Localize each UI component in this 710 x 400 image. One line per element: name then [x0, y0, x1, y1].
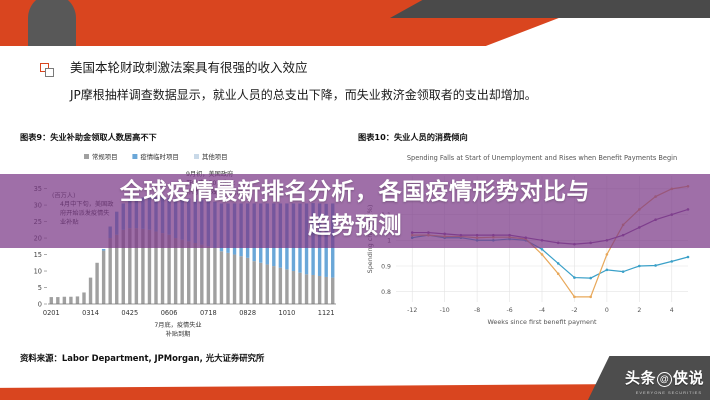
bar-segment-regular [213, 248, 216, 304]
series-point [573, 276, 576, 279]
series-point [606, 253, 609, 256]
series-point [557, 272, 560, 275]
bar-segment-regular [76, 296, 79, 304]
x-tick-label: 0606 [161, 309, 178, 317]
series-point [638, 265, 641, 268]
x-tick-label: 0201 [43, 309, 60, 317]
overlay-title: 全球疫情最新排名分析，各国疫情形势对比与 趋势预测 [0, 176, 710, 243]
bar-segment-regular [89, 278, 92, 304]
bar-segment-regular [272, 266, 275, 304]
x-tick-label: -2 [571, 307, 577, 314]
x-tick-label: -6 [506, 307, 512, 314]
bar-segment-regular [194, 243, 197, 304]
slide-page: 美国本轮财政刺激法案具有很强的收入效应 JP摩根抽样调查数据显示，就业人员的总支… [0, 0, 710, 400]
y-tick-label: 0.8 [381, 289, 391, 296]
series-point [541, 248, 544, 251]
bar-segment-regular [331, 278, 334, 304]
bar-segment-regular [69, 297, 72, 304]
x-tick-label: 0314 [82, 309, 99, 317]
bar-segment-regular [239, 256, 242, 304]
bar-segment-regular [311, 275, 314, 304]
x-tick-label: 2 [637, 307, 641, 314]
bar-segment-regular [56, 297, 59, 304]
watermark-logo: 头条@侠说 [625, 367, 704, 388]
overlay-title-line2: 趋势预测 [0, 210, 710, 244]
bar-segment-regular [220, 251, 223, 304]
chart-right-title: Spending Falls at Start of Unemployment … [407, 154, 677, 162]
series-point [654, 264, 657, 267]
x-tick-label: 0 [605, 307, 609, 314]
bar-segment-regular [187, 241, 190, 304]
watermark-text-a: 头条 [625, 370, 656, 387]
series-point [687, 256, 690, 259]
watermark-subtext: EVERYONE SECURITIES [636, 390, 702, 395]
bar-segment-regular [279, 268, 282, 304]
x-tick-label: 0718 [200, 309, 217, 317]
x-tick-label: -10 [440, 307, 450, 314]
x-axis-label: Weeks since first benefit payment [487, 318, 597, 326]
series-point [622, 270, 625, 273]
y-tick-label: 10 [34, 267, 42, 275]
chart-right-title-text: Spending Falls at Start of Unemployment … [407, 154, 677, 162]
series-point [557, 262, 560, 265]
bar-segment-regular [292, 271, 295, 304]
bar-segment-regular [246, 258, 249, 304]
chart-annotation-2: 7月底，疫情失业 [154, 321, 201, 329]
bar-segment-regular [305, 274, 308, 304]
x-tick-label: -8 [474, 307, 480, 314]
y-tick-label: 0.9 [381, 263, 391, 270]
double-square-bullet-icon [40, 63, 56, 79]
chart-left-x-axis: 02010314042506060718082810101121 [43, 309, 335, 317]
legend-swatch [84, 154, 89, 159]
x-tick-label: 1010 [279, 309, 296, 317]
legend-label: 其他项目 [202, 152, 228, 161]
series-point [589, 296, 592, 299]
bar-segment-regular [63, 297, 66, 304]
bar-segment-regular [298, 273, 301, 304]
bar-segment-regular [82, 292, 85, 304]
heading-block: 美国本轮财政刺激法案具有很强的收入效应 JP摩根抽样调查数据显示，就业人员的总支… [40, 60, 680, 104]
source-line: 资料来源：Labor Department, JPMorgan, 光大证券研究所 [20, 352, 264, 364]
legend-label: 疫情临时项目 [140, 152, 178, 161]
bar-segment-regular [324, 277, 327, 304]
heading-title: 美国本轮财政刺激法案具有很强的收入效应 [70, 60, 308, 76]
bar-segment-regular [259, 263, 262, 304]
bar-segment-regular [226, 253, 229, 304]
watermark-at-icon: @ [657, 372, 672, 387]
bar-segment-regular [252, 261, 255, 304]
legend-label: 常规项目 [92, 152, 118, 161]
x-tick-label: -12 [407, 307, 417, 314]
overlay-title-line1: 全球疫情最新排名分析，各国疫情形势对比与 [0, 176, 710, 210]
bar-segment-regular [285, 269, 288, 304]
x-tick-label: 4 [670, 307, 674, 314]
heading-subtitle: JP摩根抽样调查数据显示，就业人员的总支出下降，而失业救济金领取者的支出却增加。 [70, 88, 680, 104]
bar-segment-pandemic [102, 249, 105, 251]
top-arch-shape [28, 0, 76, 46]
bar-segment-regular [207, 246, 210, 304]
chart-right-x-axis: -12-10-8-6-4-2024 [407, 307, 674, 314]
y-tick-label: 15 [34, 251, 42, 259]
chart-annotation-2: 补贴到期 [166, 330, 191, 338]
bar-segment-regular [266, 264, 269, 304]
figure-caption-left: 图表9：失业补助金领取人数居高不下 [20, 131, 157, 143]
series-point [541, 253, 544, 256]
legend-swatch [194, 154, 199, 159]
bar-segment-regular [180, 240, 183, 304]
bar-segment-regular [233, 255, 236, 304]
bar-segment-regular [102, 251, 105, 304]
bottom-orange-band-shape [0, 384, 635, 400]
top-gray-bar-shape [390, 0, 710, 18]
y-tick-label: 0 [38, 300, 42, 308]
bar-segment-regular [50, 297, 53, 304]
series-point [606, 269, 609, 272]
bar-segment-regular [95, 263, 98, 304]
watermark-text-b: 侠说 [673, 370, 704, 387]
legend-swatch [132, 154, 137, 159]
series-point [589, 277, 592, 280]
series-point [573, 296, 576, 299]
x-tick-label: 1121 [318, 309, 335, 317]
figure-caption-right: 图表10：失业人员的消费倾向 [358, 131, 468, 143]
y-tick-label: 5 [38, 284, 42, 292]
bar-segment-regular [200, 245, 203, 304]
x-tick-label: 0425 [121, 309, 138, 317]
x-tick-label: -4 [539, 307, 545, 314]
series-point [670, 260, 673, 263]
bar-segment-regular [318, 276, 321, 304]
x-tick-label: 0828 [239, 309, 256, 317]
chart-left-legend: 常规项目疫情临时项目其他项目 [84, 152, 228, 161]
